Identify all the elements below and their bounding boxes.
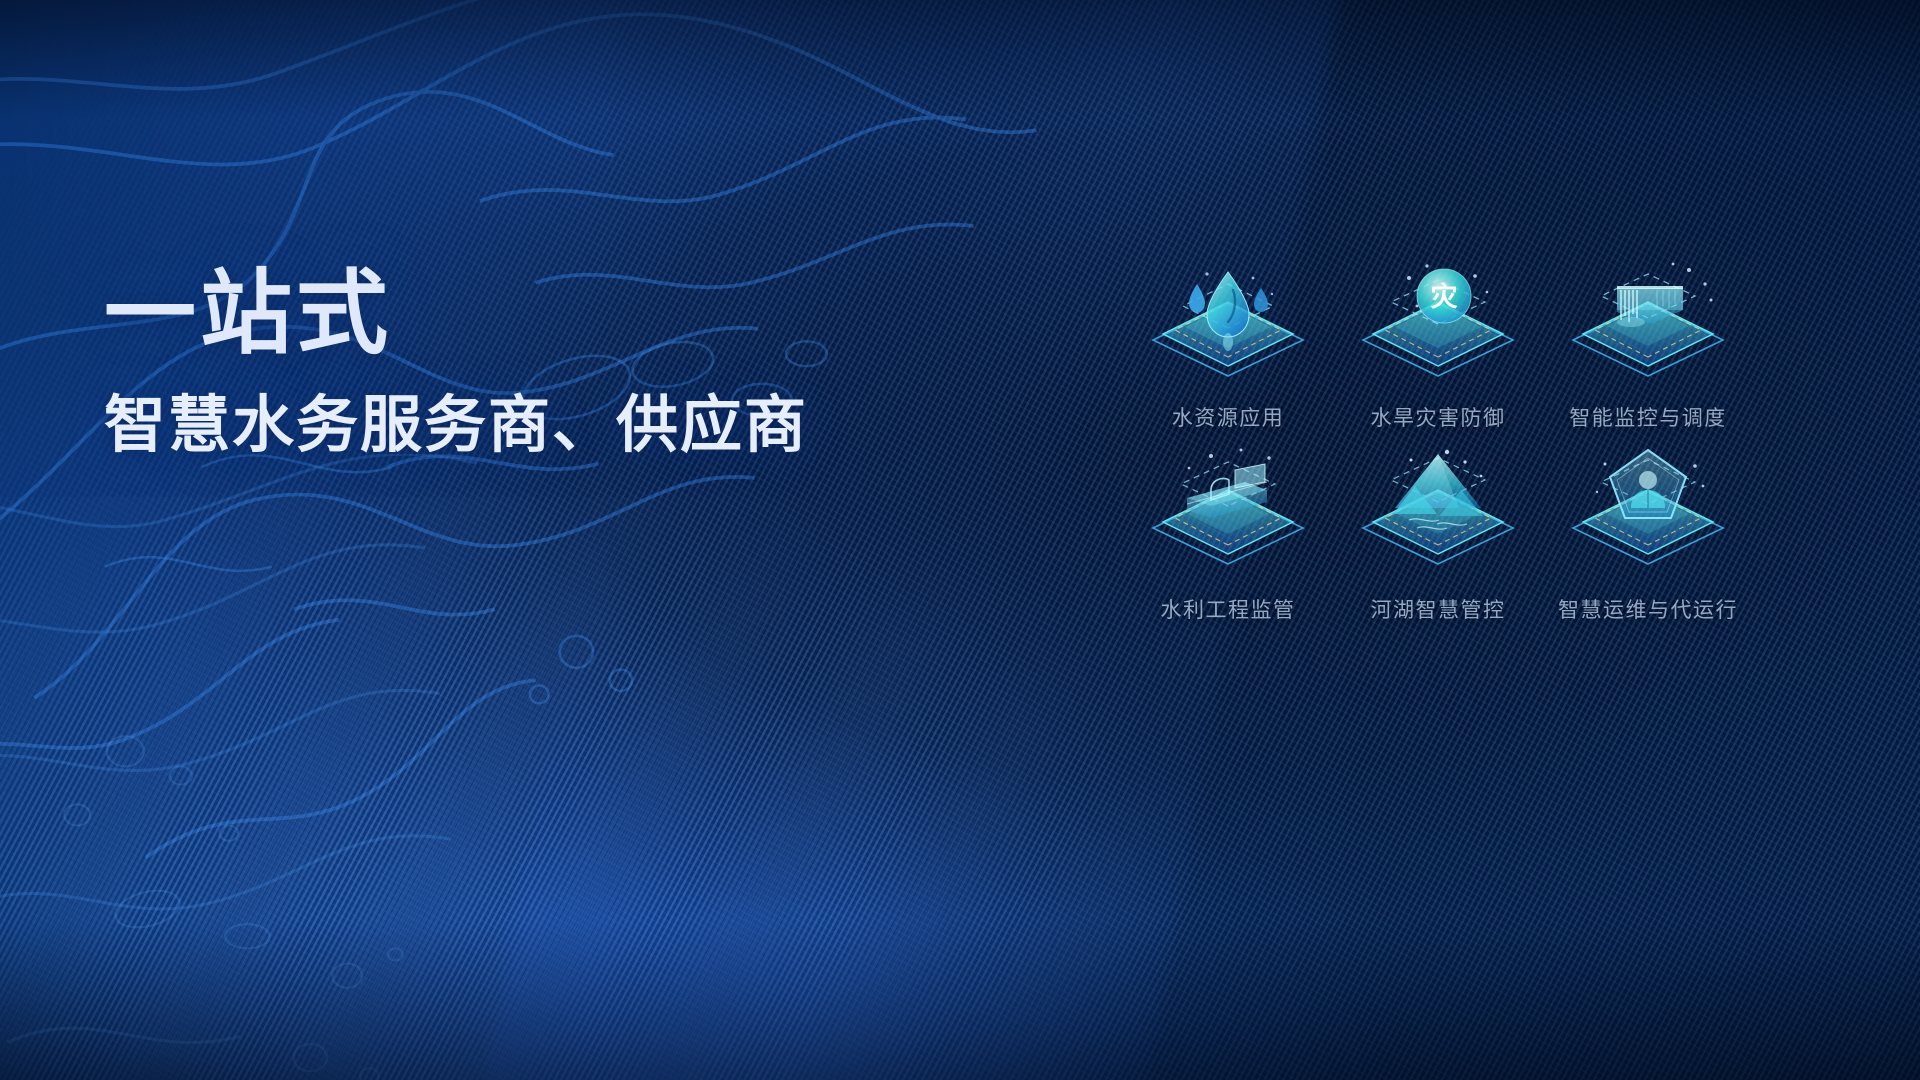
service-item-label: 河湖智慧管控 xyxy=(1371,594,1506,624)
service-item-river-lake-smart-control[interactable]: 河湖智慧管控 xyxy=(1338,440,1538,622)
service-item-water-resource-application[interactable]: 水资源应用 xyxy=(1128,258,1328,440)
water-droplet-platform-icon xyxy=(1141,258,1316,390)
service-item-smart-ops-proxy-operation[interactable]: 智慧运维与代运行 xyxy=(1548,440,1748,622)
page-title: 一站式 xyxy=(104,266,924,363)
service-item-hydro-project-supervision[interactable]: 水利工程监管 xyxy=(1128,440,1328,622)
service-item-smart-monitor-dispatch[interactable]: 智能监控与调度 xyxy=(1548,258,1748,440)
headline-block: 一站式 智慧水务服务商、供应商 xyxy=(104,266,924,460)
background-bottom-fade xyxy=(0,920,1920,1080)
service-item-label: 智能监控与调度 xyxy=(1569,402,1727,432)
page-subtitle: 智慧水务服务商、供应商 xyxy=(104,391,924,460)
construction-platform-icon xyxy=(1141,446,1316,578)
slide-canvas: 一站式 智慧水务服务商、供应商 xyxy=(0,0,1920,1080)
mountain-river-platform-icon xyxy=(1351,446,1526,578)
service-item-label: 水资源应用 xyxy=(1172,402,1285,432)
service-item-label: 水旱灾害防御 xyxy=(1371,402,1506,432)
service-item-label: 水利工程监管 xyxy=(1161,594,1296,624)
disaster-orb-platform-icon: 灾 xyxy=(1351,258,1526,390)
service-item-label: 智慧运维与代运行 xyxy=(1558,594,1738,624)
background-top-fade xyxy=(0,0,1920,120)
service-icon-grid: 水资源应用 xyxy=(1128,258,1748,622)
service-item-flood-drought-defense[interactable]: 灾 水旱灾害防御 xyxy=(1338,258,1538,440)
shield-pentagon-platform-icon xyxy=(1561,446,1736,578)
disaster-glyph: 灾 xyxy=(1430,281,1457,312)
dam-reservoir-platform-icon xyxy=(1561,258,1736,390)
